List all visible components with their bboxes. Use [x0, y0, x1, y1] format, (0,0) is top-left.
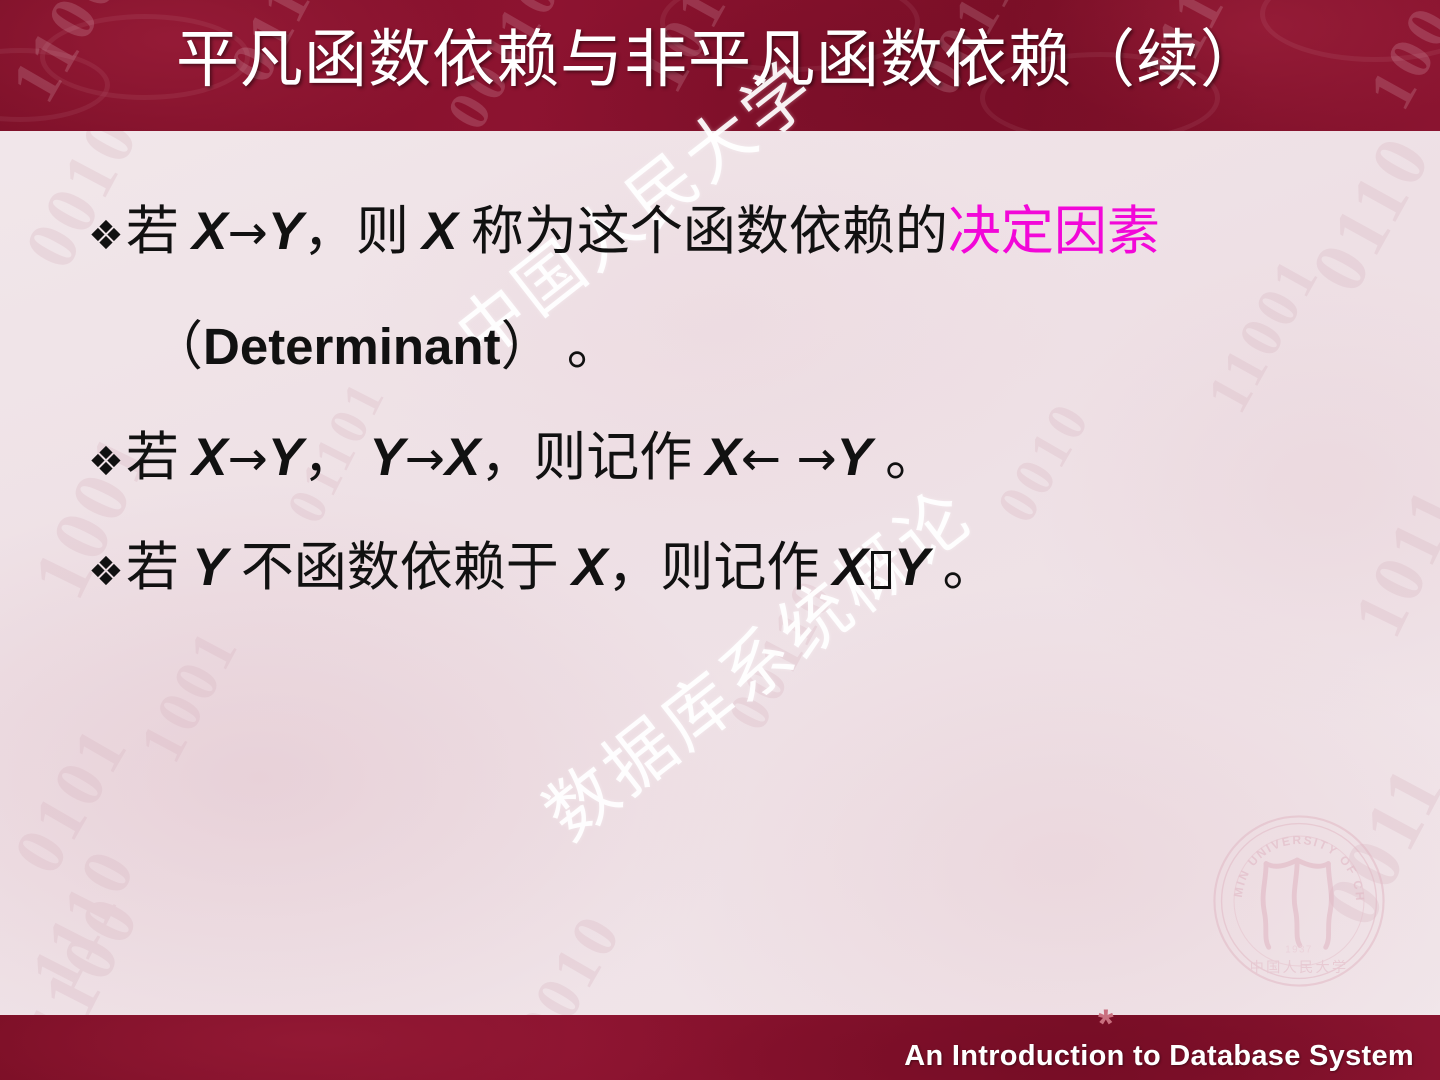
footer-title: An Introduction to Database System — [904, 1040, 1414, 1073]
bullet-text: 若 X→Y，则 X 称为这个函数依赖的决定因素 — [126, 205, 1160, 259]
slide-canvas: 0010100101011100011010110011111010010001… — [0, 0, 1440, 1080]
list-item: ❖ 若 X→Y， Y→X，则记作 X← →Y 。 — [88, 431, 938, 485]
slide-body: ❖ 若 X→Y，则 X 称为这个函数依赖的决定因素 （Determinant） … — [0, 131, 1440, 1015]
missing-glyph-box — [871, 551, 891, 589]
bullet-text: 若 X→Y， Y→X，则记作 X← →Y 。 — [126, 431, 938, 485]
diamond-bullet-icon: ❖ — [88, 216, 124, 256]
list-item: ❖ 若 X→Y，则 X 称为这个函数依赖的决定因素 — [88, 205, 1160, 259]
page-title: 平凡函数依赖与非平凡函数依赖（续） — [0, 29, 1440, 92]
diamond-bullet-icon: ❖ — [88, 552, 124, 592]
title-banner: 110001101011001111101001000110 平凡函数依赖与非平… — [0, 0, 1440, 131]
list-item: ❖ 若 Y 不函数依赖于 X，则记作 XY 。 — [88, 541, 996, 595]
bullet-text: 若 Y 不函数依赖于 X，则记作 XY 。 — [126, 541, 996, 595]
bullet-text: （Determinant） 。 — [150, 321, 620, 374]
diamond-bullet-icon: ❖ — [88, 442, 124, 482]
asterisk-icon: * — [1098, 1004, 1114, 1044]
list-item-continuation: （Determinant） 。 — [150, 321, 620, 374]
footer-banner: An Introduction to Database System — [0, 1015, 1440, 1080]
